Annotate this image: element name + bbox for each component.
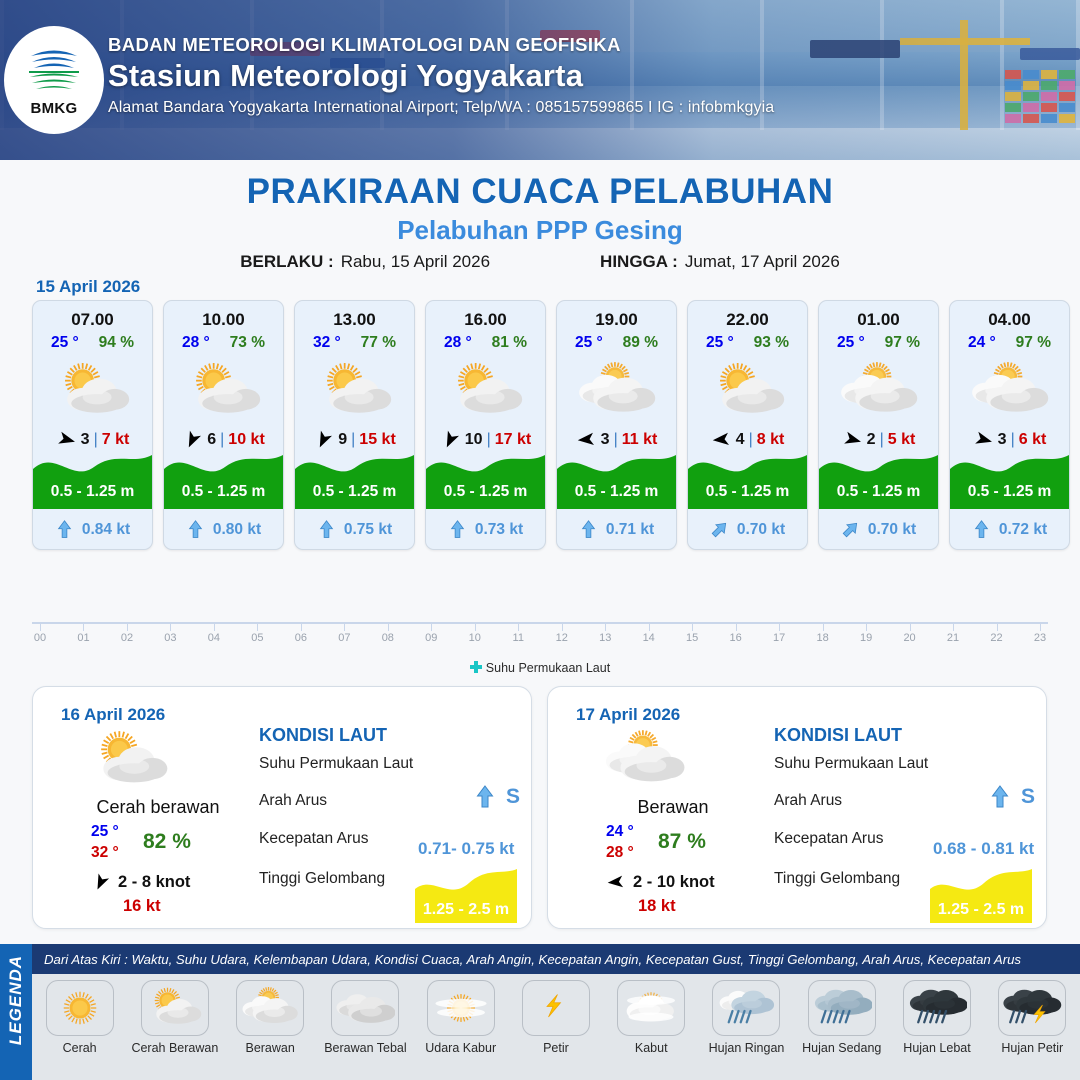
panel-temp-max: 28 ° xyxy=(606,844,634,862)
weather-icon-cerah-berawan xyxy=(145,984,205,1032)
chart-tick xyxy=(431,622,432,631)
card-humidity: 81 % xyxy=(492,334,527,352)
chart-tick-label: 09 xyxy=(425,632,437,644)
chart-tick xyxy=(1040,622,1041,631)
chart-tick-label: 22 xyxy=(990,632,1002,644)
card-time: 01.00 xyxy=(819,310,938,330)
chart-tick-label: 03 xyxy=(164,632,176,644)
weather-icon-hujan-lebat xyxy=(907,984,967,1032)
bmkg-logo-text: BMKG xyxy=(30,100,77,117)
legend-section: LEGENDA Dari Atas Kiri : Waktu, Suhu Uda… xyxy=(0,944,1080,1080)
card-temp-hum-row: 24 ° 97 % xyxy=(950,334,1069,352)
chart-tick xyxy=(562,622,563,631)
berlaku-group: BERLAKU :Rabu, 15 April 2026 xyxy=(240,252,490,272)
chart-tick xyxy=(736,622,737,631)
legend-item[interactable]: Hujan Sedang xyxy=(797,980,887,1055)
card-current-row: 0.71 kt xyxy=(557,520,676,539)
hourly-card[interactable]: 04.00 24 ° 97 % 3 | 6 kt xyxy=(949,300,1070,550)
card-humidity: 94 % xyxy=(99,334,134,352)
card-current-row: 0.84 kt xyxy=(33,520,152,539)
chart-tick xyxy=(214,622,215,631)
card-current-row: 0.80 kt xyxy=(164,520,283,539)
legend-item[interactable]: Berawan xyxy=(225,980,315,1055)
card-time: 13.00 xyxy=(295,310,414,330)
panel-wind-range: 2 - 8 knot xyxy=(118,873,190,892)
card-weather-icon xyxy=(557,357,676,425)
panel-temp-min: 25 ° xyxy=(91,823,119,841)
chart-tick xyxy=(83,622,84,631)
legend-item[interactable]: Cerah xyxy=(35,980,125,1055)
hourly-card[interactable]: 10.00 28 ° 73 % 6 | 10 kt 0.5 - 1.25 m xyxy=(163,300,284,550)
card-temp-hum-row: 25 ° 93 % xyxy=(688,334,807,352)
panel-row-sst: Suhu Permukaan Laut xyxy=(259,755,413,773)
panel-current-dir-text: S xyxy=(1021,785,1035,809)
chart-tick-label: 16 xyxy=(730,632,742,644)
agency-name: BADAN METEOROLOGI KLIMATOLOGI DAN GEOFIS… xyxy=(108,34,621,56)
legend-item[interactable]: Berawan Tebal xyxy=(320,980,410,1055)
weather-icon-hujan-ringan xyxy=(716,984,776,1032)
hourly-card[interactable]: 01.00 25 ° 97 % 2 | 5 kt xyxy=(818,300,939,550)
hourly-card[interactable]: 13.00 32 ° 77 % 9 | 15 kt 0.5 - 1.25 m xyxy=(294,300,415,550)
card-current-speed: 0.72 kt xyxy=(999,521,1047,539)
card-temp-hum-row: 32 ° 77 % xyxy=(295,334,414,352)
legend-icon-box xyxy=(712,980,780,1036)
panel-current-dir-value: S xyxy=(473,785,520,809)
legend-item-label: Hujan Sedang xyxy=(797,1041,887,1055)
hourly-date-label: 15 April 2026 xyxy=(36,277,140,297)
chart-tick xyxy=(692,622,693,631)
berlaku-label: BERLAKU : xyxy=(240,252,334,271)
current-direction-arrow xyxy=(186,520,205,539)
chart-tick-label: 15 xyxy=(686,632,698,644)
legend-items: Cerah Cerah Berawan Berawan xyxy=(32,974,1080,1080)
chart-tick xyxy=(779,622,780,631)
chart-legend: Suhu Permukaan Laut xyxy=(0,660,1080,675)
card-temperature: 25 ° xyxy=(706,334,734,352)
panel-condition: Berawan xyxy=(548,797,798,818)
legend-side-bar: LEGENDA xyxy=(0,944,32,1080)
panel-row-wave-height: Tinggi Gelombang xyxy=(774,870,900,888)
panel-row-current-speed: Kecepatan Arus xyxy=(259,830,368,848)
weather-icon-cerah-berawan xyxy=(312,360,398,422)
weather-icon-cerah-berawan xyxy=(85,728,175,792)
legend-icon-box xyxy=(998,980,1066,1036)
weather-icon-cerah-berawan xyxy=(443,360,529,422)
panel-wind-row: 2 - 8 knot xyxy=(91,872,190,892)
card-weather-icon xyxy=(295,357,414,425)
legend-item-label: Cerah xyxy=(35,1041,125,1055)
legend-item-label: Hujan Ringan xyxy=(701,1041,791,1055)
current-direction-arrow xyxy=(706,516,733,543)
weather-icon-berawan xyxy=(574,360,660,422)
station-name: Stasiun Meteorologi Yogyakarta xyxy=(108,58,583,94)
weather-icon-cerah-berawan xyxy=(50,360,136,422)
card-temp-hum-row: 28 ° 73 % xyxy=(164,334,283,352)
panel-humidity: 82 % xyxy=(143,830,191,854)
card-weather-icon xyxy=(164,357,283,425)
card-current-speed: 0.75 kt xyxy=(344,521,392,539)
legend-item-label: Berawan Tebal xyxy=(320,1041,410,1055)
card-temperature: 24 ° xyxy=(968,334,996,352)
card-temperature: 28 ° xyxy=(444,334,472,352)
chart-tick xyxy=(910,622,911,631)
panel-sea-title: KONDISI LAUT xyxy=(259,725,387,746)
card-temperature: 32 ° xyxy=(313,334,341,352)
legend-icon-box xyxy=(46,980,114,1036)
legend-item[interactable]: Cerah Berawan xyxy=(130,980,220,1055)
card-wave-height: 0.5 - 1.25 m xyxy=(950,483,1069,501)
hingga-label: HINGGA : xyxy=(600,252,678,271)
panel-temp-min: 24 ° xyxy=(606,823,634,841)
card-temp-hum-row: 28 ° 81 % xyxy=(426,334,545,352)
hingga-value: Jumat, 17 April 2026 xyxy=(685,252,840,271)
weather-icon-hujan-petir xyxy=(1002,984,1062,1032)
panel-gust: 18 kt xyxy=(638,897,676,916)
card-temp-hum-row: 25 ° 89 % xyxy=(557,334,676,352)
chart-tick-label: 08 xyxy=(382,632,394,644)
card-temperature: 25 ° xyxy=(51,334,79,352)
card-time: 19.00 xyxy=(557,310,676,330)
weather-icon-udara-kabur xyxy=(431,984,491,1032)
chart-tick xyxy=(388,622,389,631)
hourly-forecast-cards: 07.00 25 ° 94 % 3 | 7 kt 0.5 - 1.25 m xyxy=(32,300,1070,550)
daily-forecast-panels: 16 April 2026 Cerah berawan 25 ° 32 ° 82… xyxy=(32,686,1047,929)
legend-item-label: Hujan Petir xyxy=(987,1041,1077,1055)
card-time: 04.00 xyxy=(950,310,1069,330)
page-subtitle: Pelabuhan PPP Gesing xyxy=(0,215,1080,246)
panel-row-wave-height: Tinggi Gelombang xyxy=(259,870,385,888)
card-current-row: 0.70 kt xyxy=(819,520,938,539)
panel-weather-icon xyxy=(85,729,175,791)
sst-chart: 0001020304050607080910111213141516171819… xyxy=(32,560,1048,670)
card-humidity: 77 % xyxy=(361,334,396,352)
page-title: PRAKIRAAN CUACA PELABUHAN xyxy=(0,172,1080,212)
panel-humidity: 87 % xyxy=(658,830,706,854)
chart-tick xyxy=(866,622,867,631)
current-direction-arrow xyxy=(837,516,864,543)
card-humidity: 97 % xyxy=(885,334,920,352)
panel-current-dir-value: S xyxy=(988,785,1035,809)
legend-item[interactable]: Hujan Ringan xyxy=(701,980,791,1055)
chart-tick xyxy=(40,622,41,631)
legend-item[interactable]: Udara Kabur xyxy=(416,980,506,1055)
card-current-row: 0.70 kt xyxy=(688,520,807,539)
station-address: Alamat Bandara Yogyakarta International … xyxy=(108,99,774,117)
hourly-card[interactable]: 07.00 25 ° 94 % 3 | 7 kt 0.5 - 1.25 m xyxy=(32,300,153,550)
daily-panel[interactable]: 16 April 2026 Cerah berawan 25 ° 32 ° 82… xyxy=(32,686,532,929)
card-time: 22.00 xyxy=(688,310,807,330)
panel-row-current-dir: Arah Arus xyxy=(774,792,842,810)
card-current-speed: 0.80 kt xyxy=(213,521,261,539)
chart-tick-label: 14 xyxy=(643,632,655,644)
bmkg-logo: BMKG xyxy=(4,26,104,134)
panel-wind-range: 2 - 10 knot xyxy=(633,873,715,892)
legend-icon-box xyxy=(331,980,399,1036)
legend-item-label: Udara Kabur xyxy=(416,1041,506,1055)
card-time: 10.00 xyxy=(164,310,283,330)
panel-condition: Cerah berawan xyxy=(33,797,283,818)
chart-tick xyxy=(823,622,824,631)
weather-icon-cerah xyxy=(50,984,110,1032)
chart-tick xyxy=(649,622,650,631)
card-temp-hum-row: 25 ° 97 % xyxy=(819,334,938,352)
panel-row-current-speed: Kecepatan Arus xyxy=(774,830,883,848)
legend-icon-box xyxy=(427,980,495,1036)
current-direction-arrow xyxy=(473,785,497,809)
chart-tick-label: 07 xyxy=(338,632,350,644)
bmkg-logo-mark xyxy=(23,43,85,99)
chart-tick xyxy=(344,622,345,631)
chart-tick-label: 18 xyxy=(816,632,828,644)
daily-panel[interactable]: 17 April 2026 Berawan 24 ° 28 ° 87 % 2 -… xyxy=(547,686,1047,929)
panel-current-speed-value: 0.68 - 0.81 kt xyxy=(933,839,1034,859)
card-humidity: 73 % xyxy=(230,334,265,352)
chart-tick-label: 21 xyxy=(947,632,959,644)
chart-tick xyxy=(170,622,171,631)
card-wave-height: 0.5 - 1.25 m xyxy=(819,483,938,501)
card-wave-height: 0.5 - 1.25 m xyxy=(33,483,152,501)
card-wave-height: 0.5 - 1.25 m xyxy=(164,483,283,501)
chart-tick-label: 04 xyxy=(208,632,220,644)
card-time: 07.00 xyxy=(33,310,152,330)
chart-tick-label: 11 xyxy=(513,632,524,644)
hingga-group: HINGGA :Jumat, 17 April 2026 xyxy=(600,252,840,272)
card-wave-height: 0.5 - 1.25 m xyxy=(557,483,676,501)
legend-item[interactable]: Petir xyxy=(511,980,601,1055)
chart-tick-label: 06 xyxy=(295,632,307,644)
current-direction-arrow xyxy=(579,520,598,539)
legend-item[interactable]: Hujan Petir xyxy=(987,980,1077,1055)
panel-date: 17 April 2026 xyxy=(576,705,680,725)
card-humidity: 89 % xyxy=(623,334,658,352)
card-humidity: 97 % xyxy=(1016,334,1051,352)
chart-x-axis xyxy=(32,622,1048,624)
chart-tick xyxy=(257,622,258,631)
card-current-row: 0.72 kt xyxy=(950,520,1069,539)
chart-tick xyxy=(953,622,954,631)
berlaku-value: Rabu, 15 April 2026 xyxy=(341,252,490,271)
legend-icon-box xyxy=(522,980,590,1036)
chart-tick-label: 23 xyxy=(1034,632,1046,644)
legend-icon-box xyxy=(236,980,304,1036)
chart-tick-label: 20 xyxy=(903,632,915,644)
legend-item-label: Berawan xyxy=(225,1041,315,1055)
legend-item[interactable]: Kabut xyxy=(606,980,696,1055)
panel-row-current-dir: Arah Arus xyxy=(259,792,327,810)
card-weather-icon xyxy=(819,357,938,425)
weather-icon-cerah-berawan xyxy=(181,360,267,422)
card-time: 16.00 xyxy=(426,310,545,330)
chart-tick-label: 19 xyxy=(860,632,872,644)
panel-wave-height-value: 1.25 - 2.5 m xyxy=(415,901,517,919)
legend-icon-box xyxy=(808,980,876,1036)
card-temperature: 25 ° xyxy=(575,334,603,352)
chart-tick-label: 01 xyxy=(77,632,89,644)
panel-wind-row: 2 - 10 knot xyxy=(606,872,715,892)
weather-icon-berawan-tebal xyxy=(335,984,395,1032)
hourly-card[interactable]: 16.00 28 ° 81 % 10 | 17 kt 0.5 - 1.25 xyxy=(425,300,546,550)
wind-direction-arrow xyxy=(605,871,627,893)
legend-item-label: Petir xyxy=(511,1041,601,1055)
current-direction-arrow xyxy=(988,785,1012,809)
card-wave-height: 0.5 - 1.25 m xyxy=(426,483,545,501)
weather-icon-hujan-sedang xyxy=(812,984,872,1032)
current-direction-arrow xyxy=(972,520,991,539)
card-wave-height: 0.5 - 1.25 m xyxy=(295,483,414,501)
card-weather-icon xyxy=(688,357,807,425)
chart-tick-label: 05 xyxy=(251,632,263,644)
legend-item-label: Cerah Berawan xyxy=(130,1041,220,1055)
chart-tick-label: 17 xyxy=(773,632,785,644)
current-direction-arrow xyxy=(317,520,336,539)
page-header: BMKG BADAN METEOROLOGI KLIMATOLOGI DAN G… xyxy=(0,0,1080,160)
card-wave-height: 0.5 - 1.25 m xyxy=(688,483,807,501)
hourly-card[interactable]: 22.00 25 ° 93 % 4 | 8 kt 0.5 - 1.25 m xyxy=(687,300,808,550)
chart-legend-label: Suhu Permukaan Laut xyxy=(486,661,610,675)
card-current-row: 0.75 kt xyxy=(295,520,414,539)
panel-date: 16 April 2026 xyxy=(61,705,165,725)
chart-tick-label: 13 xyxy=(599,632,611,644)
legend-item-label: Hujan Lebat xyxy=(892,1041,982,1055)
weather-icon-berawan xyxy=(240,984,300,1032)
weather-icon-petir xyxy=(526,984,586,1032)
legend-icon-box xyxy=(903,980,971,1036)
panel-temp-max: 32 ° xyxy=(91,844,119,862)
panel-current-speed-value: 0.71- 0.75 kt xyxy=(418,839,514,859)
current-direction-arrow xyxy=(55,520,74,539)
chart-tick xyxy=(301,622,302,631)
hourly-card[interactable]: 19.00 25 ° 89 % 3 | 11 kt xyxy=(556,300,677,550)
card-weather-icon xyxy=(33,357,152,425)
validity-row: BERLAKU :Rabu, 15 April 2026 HINGGA :Jum… xyxy=(0,252,1080,272)
card-humidity: 93 % xyxy=(754,334,789,352)
panel-sea-title: KONDISI LAUT xyxy=(774,725,902,746)
current-direction-arrow xyxy=(448,520,467,539)
weather-icon-berawan xyxy=(967,360,1053,422)
legend-marker-icon xyxy=(470,661,481,672)
chart-tick xyxy=(518,622,519,631)
chart-tick-label: 12 xyxy=(556,632,568,644)
card-temp-hum-row: 25 ° 94 % xyxy=(33,334,152,352)
panel-current-dir-text: S xyxy=(506,785,520,809)
card-temperature: 25 ° xyxy=(837,334,865,352)
card-current-speed: 0.70 kt xyxy=(868,521,916,539)
panel-row-sst: Suhu Permukaan Laut xyxy=(774,755,928,773)
legend-header-text: Dari Atas Kiri : Waktu, Suhu Udara, Kele… xyxy=(32,944,1080,974)
card-current-speed: 0.84 kt xyxy=(82,521,130,539)
card-current-speed: 0.70 kt xyxy=(737,521,785,539)
chart-tick xyxy=(605,622,606,631)
chart-tick xyxy=(997,622,998,631)
weather-icon-kabut xyxy=(621,984,681,1032)
chart-tick xyxy=(127,622,128,631)
legend-icon-box xyxy=(617,980,685,1036)
panel-wave-height-value: 1.25 - 2.5 m xyxy=(930,901,1032,919)
legend-item-label: Kabut xyxy=(606,1041,696,1055)
legend-icon-box xyxy=(141,980,209,1036)
card-current-speed: 0.71 kt xyxy=(606,521,654,539)
panel-weather-icon xyxy=(600,729,690,791)
chart-tick-label: 02 xyxy=(121,632,133,644)
card-temperature: 28 ° xyxy=(182,334,210,352)
weather-icon-berawan xyxy=(600,728,690,792)
infographic-page: BMKG BADAN METEOROLOGI KLIMATOLOGI DAN G… xyxy=(0,0,1080,1080)
chart-tick xyxy=(475,622,476,631)
weather-icon-cerah-berawan xyxy=(705,360,791,422)
chart-tick-label: 00 xyxy=(34,632,46,644)
legend-item[interactable]: Hujan Lebat xyxy=(892,980,982,1055)
legend-side-label: LEGENDA xyxy=(6,948,26,1052)
weather-icon-berawan xyxy=(836,360,922,422)
card-current-row: 0.73 kt xyxy=(426,520,545,539)
card-weather-icon xyxy=(426,357,545,425)
chart-tick-label: 10 xyxy=(469,632,481,644)
card-weather-icon xyxy=(950,357,1069,425)
card-current-speed: 0.73 kt xyxy=(475,521,523,539)
wind-direction-arrow xyxy=(88,869,115,896)
panel-gust: 16 kt xyxy=(123,897,161,916)
